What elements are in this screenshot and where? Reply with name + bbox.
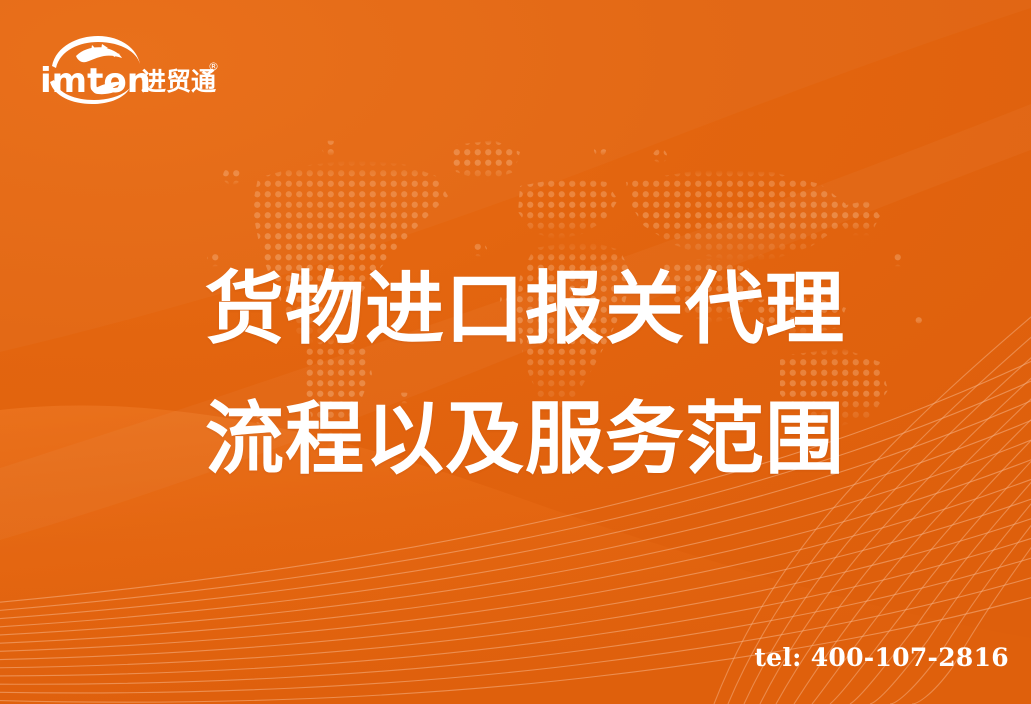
headline-block: 货物进口报关代理 流程以及服务范围 [205,244,845,504]
headline-line-2: 流程以及服务范围 [205,374,845,504]
contact-phone[interactable]: tel: 400-107-2816 [754,643,1009,672]
logo-latin-text: imton [40,61,151,101]
headline-line-1: 货物进口报关代理 [205,244,845,374]
brand-logo[interactable]: imton 进贸通 ® [40,34,220,104]
logo-chinese-text: 进贸通 [141,67,216,96]
globe-swoosh-logo-icon: imton 进贸通 ® [40,34,220,104]
registered-trademark-icon: ® [208,60,219,73]
promo-banner: imton 进贸通 ® 货物进口报关代理 流程以及服务范围 tel: 400-1… [0,0,1031,704]
